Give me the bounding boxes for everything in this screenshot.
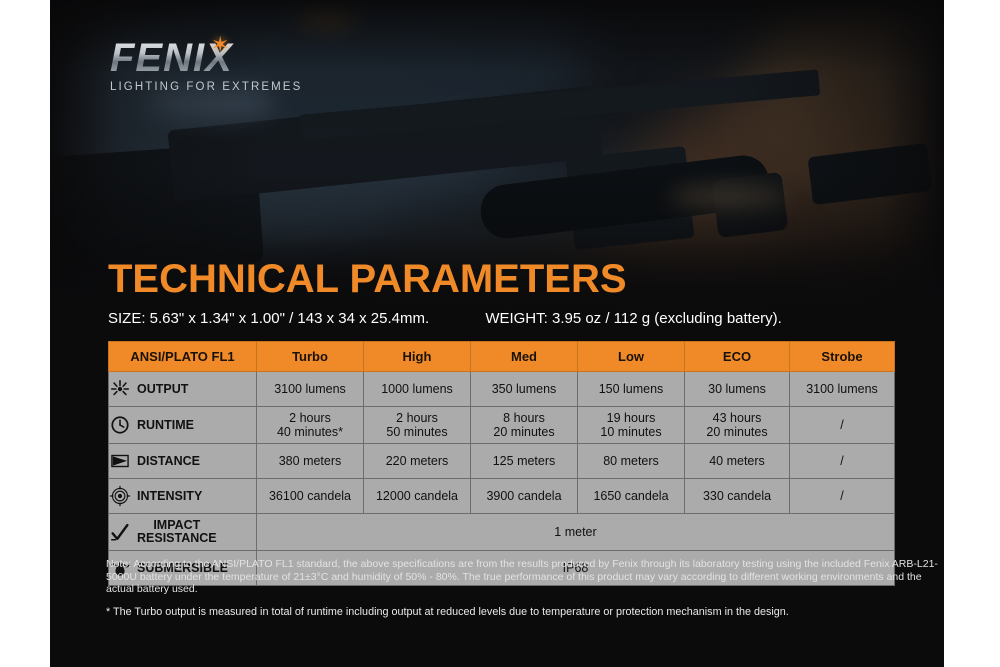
row-label-intensity: INTENSITY (109, 479, 257, 514)
row-label-runtime-text: RUNTIME (137, 419, 194, 432)
cell-intensity-low: 1650 candela (578, 479, 685, 514)
row-label-output: OUTPUT (109, 372, 257, 407)
cell-distance-strobe: / (790, 444, 895, 479)
cell-impact-resistance-value: 1 meter (257, 514, 895, 551)
cell-runtime-eco-l1: 43 hours (685, 411, 789, 425)
cell-output-high: 1000 lumens (364, 372, 471, 407)
cell-runtime-high: 2 hours 50 minutes (364, 407, 471, 444)
cell-distance-high: 220 meters (364, 444, 471, 479)
row-label-impact-l1: IMPACT (153, 518, 200, 532)
cell-runtime-high-l1: 2 hours (364, 411, 470, 425)
table-row-output: OUTPUT 3100 lumens 1000 lumens 350 lumen… (109, 372, 895, 407)
table-row-impact-resistance: IMPACT RESISTANCE 1 meter (109, 514, 895, 551)
clock-icon (109, 414, 131, 436)
cell-intensity-eco: 330 candela (685, 479, 790, 514)
logo-tagline: LIGHTING FOR EXTREMES (110, 81, 310, 93)
weight-text: WEIGHT: 3.95 oz / 112 g (excluding batte… (485, 310, 782, 327)
sunburst-icon (109, 378, 131, 400)
row-label-impact-resistance: IMPACT RESISTANCE (109, 514, 257, 551)
col-header-low: Low (578, 342, 685, 372)
cell-distance-med: 125 meters (471, 444, 578, 479)
fenix-logo: FENIX ✶ LIGHTING FOR EXTREMES (110, 38, 310, 96)
col-header-high: High (364, 342, 471, 372)
note-main: Note: According to the ANSI/PLATO FL1 st… (106, 558, 944, 596)
cell-runtime-med-l2: 20 minutes (471, 425, 577, 439)
row-label-impact-l2: RESISTANCE (137, 532, 217, 545)
col-header-eco: ECO (685, 342, 790, 372)
cell-runtime-eco: 43 hours 20 minutes (685, 407, 790, 444)
target-intensity-icon (109, 485, 131, 507)
cell-output-low: 150 lumens (578, 372, 685, 407)
cell-output-strobe: 3100 lumens (790, 372, 895, 407)
cell-intensity-strobe: / (790, 479, 895, 514)
table-row-runtime: RUNTIME 2 hours 40 minutes* 2 hours 50 m… (109, 407, 895, 444)
cell-distance-low: 80 meters (578, 444, 685, 479)
cell-distance-turbo: 380 meters (257, 444, 364, 479)
row-label-intensity-text: INTENSITY (137, 490, 202, 503)
cell-runtime-turbo-l1: 2 hours (257, 411, 363, 425)
cell-intensity-turbo: 36100 candela (257, 479, 364, 514)
beam-distance-icon (109, 450, 131, 472)
row-label-output-text: OUTPUT (137, 383, 188, 396)
spec-sheet-page: FENIX ✶ LIGHTING FOR EXTREMES TECHNICAL … (0, 0, 1000, 667)
table-header-row: ANSI/PLATO FL1 Turbo High Med Low ECO St… (109, 342, 895, 372)
cell-output-turbo: 3100 lumens (257, 372, 364, 407)
cell-runtime-low-l2: 10 minutes (578, 425, 684, 439)
table-row-distance: DISTANCE 380 meters 220 meters 125 meter… (109, 444, 895, 479)
cell-runtime-high-l2: 50 minutes (364, 425, 470, 439)
cell-runtime-med-l1: 8 hours (471, 411, 577, 425)
cell-runtime-med: 8 hours 20 minutes (471, 407, 578, 444)
note-asterisk: * The Turbo output is measured in total … (106, 606, 944, 619)
row-label-distance: DISTANCE (109, 444, 257, 479)
col-header-med: Med (471, 342, 578, 372)
size-weight-line: SIZE: 5.63" x 1.34" x 1.00" / 143 x 34 x… (108, 310, 938, 327)
col-header-strobe: Strobe (790, 342, 895, 372)
cell-runtime-turbo: 2 hours 40 minutes* (257, 407, 364, 444)
table-row-intensity: INTENSITY 36100 candela 12000 candela 39… (109, 479, 895, 514)
logo-wordmark: FENIX (110, 38, 310, 78)
cell-runtime-eco-l2: 20 minutes (685, 425, 789, 439)
col-header-turbo: Turbo (257, 342, 364, 372)
cell-output-med: 350 lumens (471, 372, 578, 407)
cell-intensity-high: 12000 candela (364, 479, 471, 514)
specs-table: ANSI/PLATO FL1 Turbo High Med Low ECO St… (108, 341, 895, 586)
cell-output-eco: 30 lumens (685, 372, 790, 407)
page-title: TECHNICAL PARAMETERS (108, 258, 627, 300)
row-label-runtime: RUNTIME (109, 407, 257, 444)
col-header-ansi: ANSI/PLATO FL1 (109, 342, 257, 372)
star-icon: ✶ (211, 34, 233, 56)
size-text: SIZE: 5.63" x 1.34" x 1.00" / 143 x 34 x… (108, 310, 429, 327)
cell-runtime-low: 19 hours 10 minutes (578, 407, 685, 444)
cell-distance-eco: 40 meters (685, 444, 790, 479)
cell-intensity-med: 3900 candela (471, 479, 578, 514)
row-label-distance-text: DISTANCE (137, 455, 200, 468)
cell-runtime-low-l1: 19 hours (578, 411, 684, 425)
dark-panel: FENIX ✶ LIGHTING FOR EXTREMES TECHNICAL … (50, 0, 944, 667)
specs-table-wrapper: ANSI/PLATO FL1 Turbo High Med Low ECO St… (108, 341, 894, 586)
impact-resistance-icon (109, 521, 131, 543)
cell-runtime-turbo-l2: 40 minutes* (257, 425, 363, 439)
cell-runtime-strobe: / (790, 407, 895, 444)
